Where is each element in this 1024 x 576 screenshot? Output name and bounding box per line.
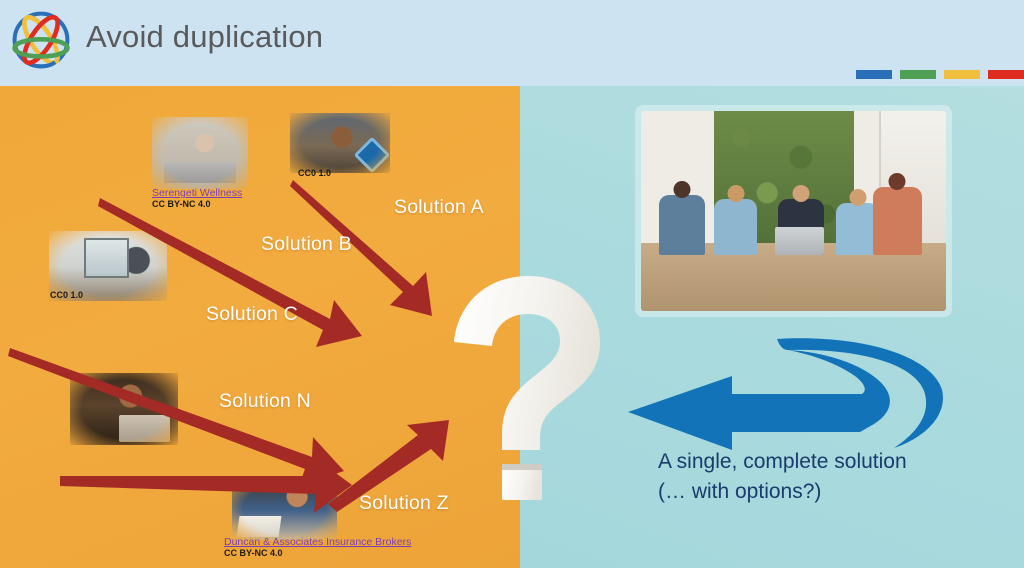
photo-duncan — [232, 478, 337, 540]
label-solution-c: Solution C — [206, 303, 298, 326]
curved-left-arrow — [612, 332, 946, 450]
bottom-strip — [0, 568, 1024, 576]
label-solution-b: Solution B — [261, 233, 352, 256]
slide-header: Avoid duplication — [0, 0, 1024, 86]
label-solution-a: Solution A — [394, 196, 484, 219]
person-1 — [659, 195, 705, 255]
photo-cc0-top — [290, 113, 390, 173]
credit-link-duncan[interactable]: Duncan & Associates Insurance Brokers — [224, 537, 411, 548]
label-solution-n: Solution N — [219, 390, 311, 413]
credit-link-wellness[interactable]: Serengeti Wellness — [152, 188, 242, 199]
person-5 — [873, 187, 922, 255]
caption-line-2: (… with options?) — [658, 477, 907, 507]
credit-duncan: Duncan & Associates Insurance Brokers CC… — [224, 537, 411, 559]
question-mark-graphic — [452, 272, 604, 500]
page-title: Avoid duplication — [86, 19, 323, 55]
credit-cc0-top: CC0 1.0 — [298, 168, 331, 179]
color-bar-green — [900, 70, 936, 79]
teal-caption: A single, complete solution (… with opti… — [658, 447, 907, 507]
credit-license-cc0-top: CC0 1.0 — [298, 168, 331, 179]
slide: Avoid duplication Serengeti Wellness CC … — [0, 0, 1024, 576]
person-2 — [714, 199, 757, 255]
color-bar-blue — [856, 70, 892, 79]
photo-office — [70, 373, 178, 445]
laptop — [775, 227, 824, 255]
credit-wellness: Serengeti Wellness CC BY-NC 4.0 — [152, 188, 242, 210]
label-solution-z: Solution Z — [359, 492, 449, 515]
photo-wellness — [152, 117, 248, 189]
brand-color-bars — [856, 70, 1024, 79]
color-bar-red — [988, 70, 1024, 79]
credit-cc0-left: CC0 1.0 — [50, 290, 83, 301]
caption-line-1: A single, complete solution — [658, 447, 907, 477]
credit-license-duncan: CC BY-NC 4.0 — [224, 548, 411, 559]
meeting-photo — [641, 111, 946, 311]
circular-atom-logo — [8, 6, 74, 74]
credit-license-wellness: CC BY-NC 4.0 — [152, 199, 242, 210]
color-bar-yellow — [944, 70, 980, 79]
credit-license-cc0-left: CC0 1.0 — [50, 290, 83, 301]
